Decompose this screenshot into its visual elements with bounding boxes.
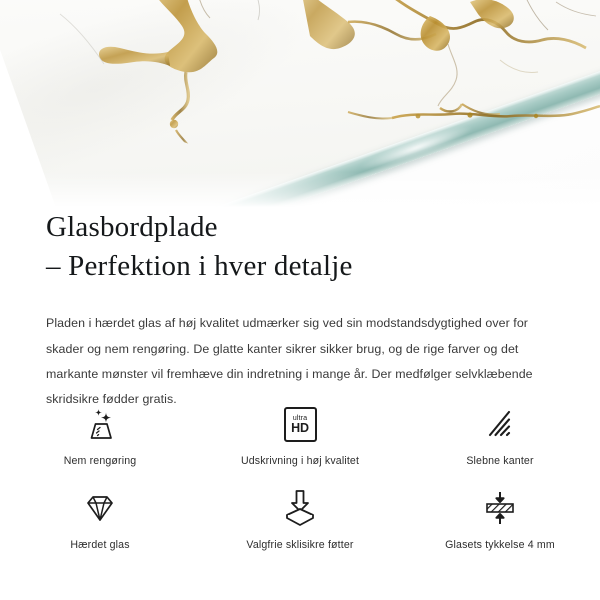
feature-grid: Nem rengøring ultra HD Udskrivning i høj… [0, 398, 600, 566]
ultra-hd-icon: ultra HD [272, 402, 328, 446]
feature-item-thickness: Glasets tykkelse 4 mm [400, 482, 600, 566]
feature-label: Nem rengøring [64, 455, 137, 467]
hero-stage [0, 0, 600, 212]
feature-label: Hærdet glas [70, 539, 129, 551]
headline-line-2: – Perfektion i hver detalje [46, 247, 600, 286]
content-block: Glasbordplade – Perfektion i hver detalj… [0, 200, 600, 413]
product-description: Pladen i hærdet glas af høj kvalitet udm… [0, 285, 600, 413]
feature-label: Udskrivning i høj kvalitet [241, 455, 359, 467]
page-title: Glasbordplade – Perfektion i hver detalj… [0, 200, 600, 285]
feature-label: Valgfrie sklisikre føtter [246, 539, 353, 551]
thickness-icon [472, 486, 528, 530]
feature-item-easy-cleaning: Nem rengøring [0, 398, 200, 482]
anti-slip-feet-icon [272, 486, 328, 530]
diamond-icon [72, 486, 128, 530]
headline-line-1: Glasbordplade [46, 211, 218, 243]
feature-item-polished-edges: Slebne kanter [400, 398, 600, 482]
feature-label: Glasets tykkelse 4 mm [445, 539, 555, 551]
ultra-hd-badge: ultra HD [284, 407, 317, 442]
ultra-hd-badge-bottom: HD [291, 422, 309, 435]
feature-item-tempered-glass: Hærdet glas [0, 482, 200, 566]
ultra-hd-badge-top: ultra [293, 414, 307, 421]
feature-item-print-quality: ultra HD Udskrivning i høj kvalitet [200, 398, 400, 482]
product-info-page: Glasbordplade – Perfektion i hver detalj… [0, 0, 600, 600]
sparkle-plate-icon [72, 402, 128, 446]
feature-item-anti-slip-feet: Valgfrie sklisikre føtter [200, 482, 400, 566]
polished-edges-icon [472, 402, 528, 446]
feature-label: Slebne kanter [466, 455, 533, 467]
hero-product-image [0, 0, 600, 212]
